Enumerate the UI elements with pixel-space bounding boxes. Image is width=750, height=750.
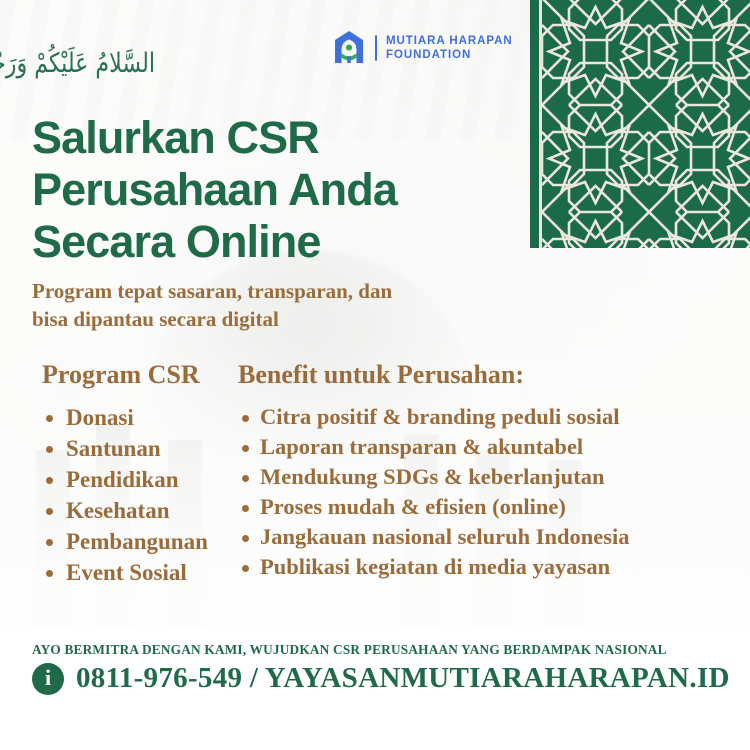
footer-tagline: AYO BERMITRA DENGAN KAMI, WUJUDKAN CSR P… (32, 642, 667, 658)
program-csr-title: Program CSR (42, 360, 225, 390)
brand-name: MUTIARA HARAPAN FOUNDATION (386, 34, 513, 63)
arabic-greeting-calligraphy: السَّلامُ عَلَيْكُمْ وَرَحْمَةُ اللهِ وَ… (32, 50, 155, 106)
list-item: Laporan transparan & akuntabel (238, 432, 740, 462)
headline: Salurkan CSR Perusahaan Anda Secara Onli… (32, 112, 532, 268)
info-circle-icon: i (32, 663, 64, 695)
islamic-pattern-frame (539, 0, 750, 248)
headline-line-2: Perusahaan Anda (32, 164, 532, 216)
islamic-pattern-panel (530, 0, 750, 248)
islamic-star-pattern-svg (542, 0, 750, 248)
list-item: Mendukung SDGs & keberlanjutan (238, 462, 740, 492)
poster-canvas: السَّلامُ عَلَيْكُمْ وَرَحْمَةُ اللهِ وَ… (0, 0, 750, 750)
list-item: Pendidikan (42, 464, 225, 495)
mosque-dome-people-logo-icon (332, 30, 366, 66)
subheadline: Program tepat sasaran, transparan, dan b… (32, 277, 532, 333)
list-item: Event Sosial (42, 557, 225, 588)
program-csr-column: Program CSR Donasi Santunan Pendidikan K… (0, 360, 225, 588)
contact-phone-website[interactable]: 0811-976-549 / YAYASANMUTIARAHARAPAN.ID (76, 662, 730, 695)
subheadline-line-1: Program tepat sasaran, transparan, dan (32, 277, 532, 305)
benefit-title: Benefit untuk Perusahan: (238, 360, 740, 390)
subheadline-line-2: bisa dipantau secara digital (32, 305, 532, 333)
brand-logo: MUTIARA HARAPAN FOUNDATION (332, 30, 513, 66)
brand-divider (375, 35, 377, 61)
list-item: Proses mudah & efisien (online) (238, 492, 740, 522)
list-item: Pembangunan (42, 526, 225, 557)
benefit-list: Citra positif & branding peduli sosial L… (238, 402, 740, 582)
list-item: Citra positif & branding peduli sosial (238, 402, 740, 432)
list-item: Santunan (42, 433, 225, 464)
list-item: Donasi (42, 402, 225, 433)
list-item: Jangkauan nasional seluruh Indonesia (238, 522, 740, 552)
headline-line-1: Salurkan CSR (32, 112, 532, 164)
program-csr-list: Donasi Santunan Pendidikan Kesehatan Pem… (42, 402, 225, 588)
footer: AYO BERMITRA DENGAN KAMI, WUJUDKAN CSR P… (0, 630, 750, 750)
list-item: Kesehatan (42, 495, 225, 526)
footer-contact[interactable]: i 0811-976-549 / YAYASANMUTIARAHARAPAN.I… (32, 662, 730, 695)
benefit-column: Benefit untuk Perusahan: Citra positif &… (225, 360, 740, 588)
feature-columns: Program CSR Donasi Santunan Pendidikan K… (0, 360, 750, 588)
headline-line-3: Secara Online (32, 216, 532, 268)
list-item: Publikasi kegiatan di media yayasan (238, 552, 740, 582)
